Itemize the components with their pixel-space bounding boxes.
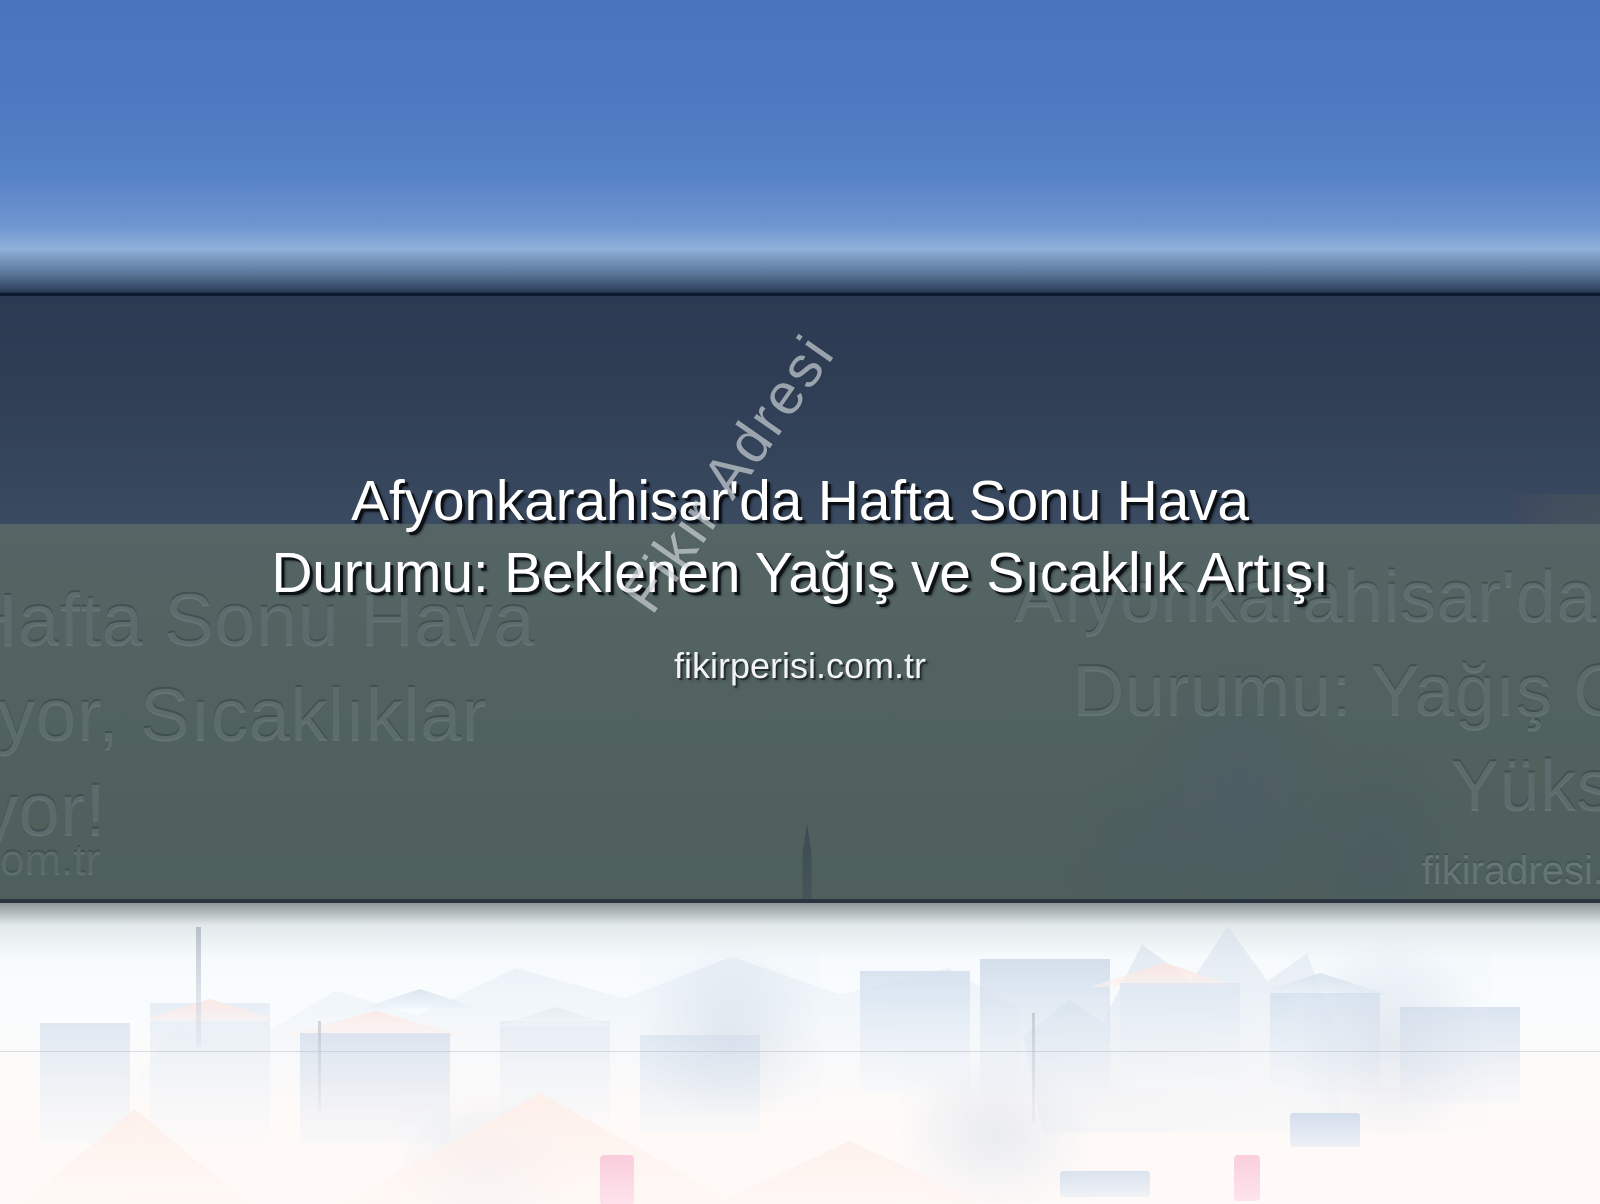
- background-url-left: com.tr: [0, 834, 100, 887]
- shop-sign: [1234, 1155, 1260, 1201]
- tree: [640, 943, 820, 1113]
- minaret-spire: [196, 927, 201, 1047]
- background-text-left-line3: iyor!: [0, 766, 535, 855]
- roof: [140, 999, 280, 1021]
- building: [1400, 1007, 1520, 1103]
- building: [860, 971, 970, 1091]
- page-title: Afyonkarahisar'da Hafta Sonu Hava Durumu…: [150, 466, 1450, 610]
- utility-pole: [318, 1021, 321, 1111]
- building: [640, 1035, 760, 1131]
- shop-sign: [600, 1155, 634, 1204]
- building: [150, 1003, 270, 1143]
- tree: [900, 1053, 1090, 1203]
- building: [40, 1023, 130, 1143]
- site-url: fikirperisi.com.tr: [150, 645, 1450, 687]
- roof: [360, 989, 480, 1009]
- cityscape-photo: [0, 903, 1600, 1204]
- market-tent: [20, 1109, 250, 1204]
- building: [500, 1021, 610, 1131]
- power-line: [0, 1051, 1600, 1052]
- background-text-left: Hafta Sonu Hava liyor, Sıcaklıklar iyor!: [0, 576, 535, 854]
- page-title-line1: Afyonkarahisar'da Hafta Sonu Hava: [150, 466, 1450, 538]
- building: [1270, 993, 1380, 1093]
- castle-silhouette-ghost: [1000, 594, 1520, 903]
- page-title-line2: Durumu: Beklenen Yağış ve Sıcaklık Artış…: [150, 538, 1450, 610]
- sky-background: [0, 0, 1600, 296]
- building: [300, 1033, 450, 1143]
- background-url-right: fikiradresi.c: [1422, 846, 1600, 894]
- minaret-silhouette-ghost: [800, 824, 814, 903]
- shop-sign: [1060, 1171, 1150, 1197]
- roof: [1250, 973, 1390, 995]
- building: [1120, 983, 1240, 1093]
- utility-pole: [1032, 1013, 1035, 1123]
- rock-formation: [1010, 903, 1340, 1133]
- tree: [1290, 933, 1490, 1133]
- roof: [280, 1011, 470, 1037]
- shop-sign: [1290, 1113, 1360, 1147]
- market-tent: [700, 1141, 1000, 1204]
- market-tent: [330, 1093, 750, 1204]
- banner-stage: Hafta Sonu Hava liyor, Sıcaklıklar iyor!…: [0, 0, 1600, 1204]
- roof: [1090, 963, 1240, 987]
- photo-haze-overlay: [0, 903, 1600, 1204]
- roof: [492, 1007, 620, 1027]
- building: [980, 959, 1110, 1095]
- background-text-right-line3: Yüksel: [1014, 743, 1600, 829]
- tree: [400, 1093, 570, 1204]
- compression-artifact: [1512, 494, 1600, 524]
- hillside: [120, 911, 1020, 1101]
- cityscape-shapes: [0, 903, 1600, 1204]
